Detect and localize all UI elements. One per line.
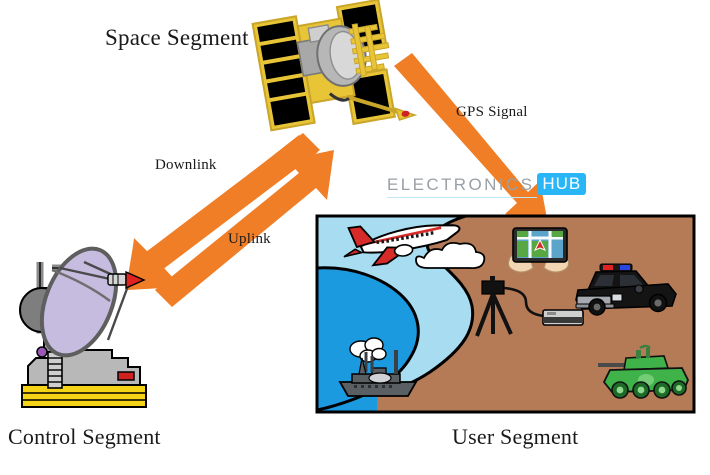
ground-control-dish-antenna	[20, 238, 146, 407]
ship	[340, 338, 416, 396]
satellite-antenna-array	[348, 19, 392, 76]
gps-satellite	[252, 0, 415, 142]
user-segment-label: User Segment	[452, 424, 578, 450]
logo-hub-badge: HUB	[537, 173, 586, 195]
dish-feed-horn	[108, 272, 144, 288]
satellite-solar-panel-left	[253, 16, 315, 130]
space-segment-label: Space Segment	[105, 25, 249, 51]
logo-wordmark: ELECTRONICS	[387, 176, 534, 193]
control-segment-label: Control Segment	[8, 424, 161, 450]
survey-tripod	[477, 276, 511, 336]
gps-tablet-in-hands	[508, 228, 568, 272]
cloud	[416, 243, 484, 268]
user-segment-scene	[317, 215, 694, 412]
uplink-label: Uplink	[228, 231, 271, 248]
police-car	[576, 264, 676, 315]
gps-signal-label: GPS Signal	[456, 104, 528, 121]
downlink-label: Downlink	[155, 157, 217, 174]
armored-vehicle	[598, 346, 688, 398]
electronics-hub-logo: ELECTRONICS HUB	[387, 173, 586, 195]
diagram-canvas: Space Segment Control Segment User Segme…	[0, 0, 710, 475]
gps-signal-arrow	[394, 53, 548, 224]
airplane	[341, 215, 463, 269]
diagram-artwork	[0, 0, 710, 475]
logo-underline	[387, 197, 537, 198]
satellite-solar-panel-right	[333, 0, 399, 124]
gps-receiver-box	[543, 310, 583, 325]
